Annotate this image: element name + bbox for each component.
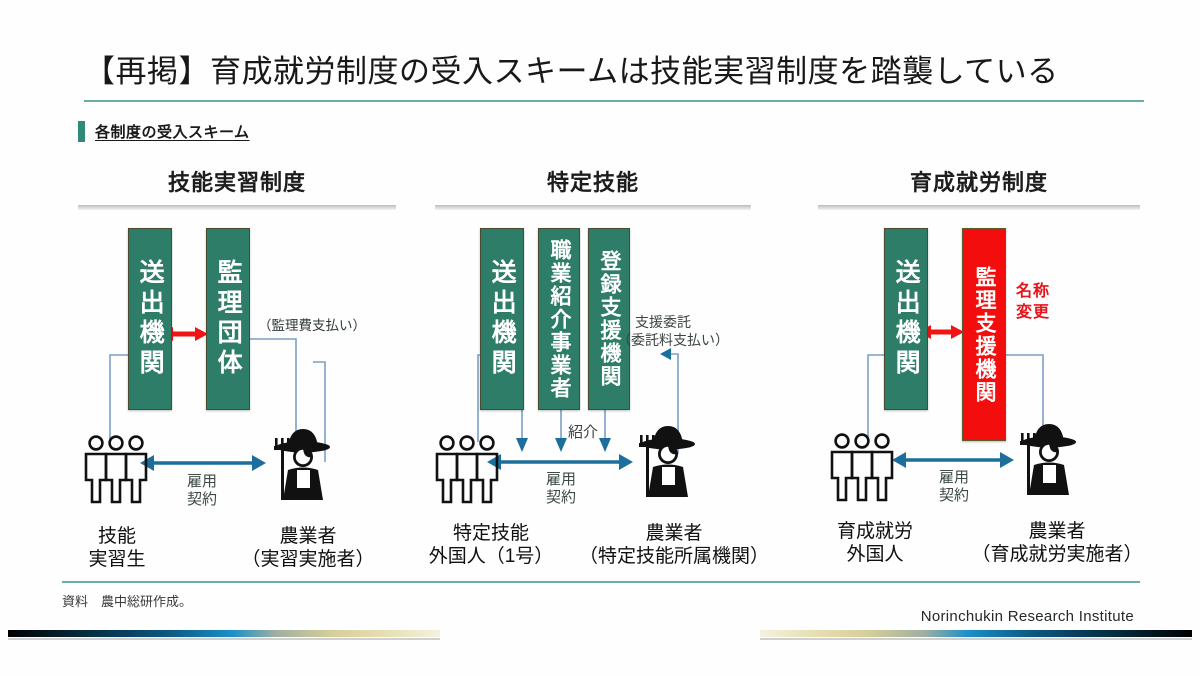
source-note: 資料 農中総研作成。 (62, 591, 192, 610)
box-label: 送出機関 (137, 259, 163, 379)
three-workers-icon (437, 437, 497, 502)
three-workers-icon (86, 437, 146, 502)
section-header: 各制度の受入スキーム (78, 121, 250, 142)
box-label: 送出機関 (489, 259, 515, 379)
box-supervising-organization[interactable]: 監理団体 (206, 228, 250, 410)
box-sending-organization[interactable]: 送出機関 (128, 228, 172, 410)
footer-gradient-bar-right (760, 630, 1192, 637)
arrowhead-sending-down (516, 438, 528, 452)
support-commission-note: 支援委託 (635, 314, 691, 332)
column-diagram: 送出機関 監理支援機関 名称変更 雇用契約 育成就労外国人 農業者（育成就労実施… (818, 210, 1140, 570)
scheme-column-tokutei-ginou: 特定技能 (435, 165, 751, 565)
farmer-icon (639, 426, 695, 497)
box-label: 監理団体 (215, 259, 241, 379)
scheme-column-ikusei-shuro: 育成就労制度 (818, 165, 1140, 565)
column-title: 技能実習制度 (78, 165, 396, 197)
caption-farmer: 農業者（育成就労実施者） (958, 520, 1156, 566)
blue-double-arrow-icon (487, 454, 633, 470)
connector-farmer-to-supervision-support (1003, 355, 1043, 440)
blue-double-arrow-icon (140, 455, 266, 471)
brand-name: Norinchukin Research Institute (921, 608, 1134, 625)
three-workers-icon (832, 435, 892, 500)
arrowhead-placement-down (555, 438, 567, 452)
footer-gradient-bar-right-shadow (760, 638, 1192, 640)
column-diagram: 送出機関 職業紹介事業者 登録支援機関 支援委託 （委託料支払い） 紹介 雇用契… (435, 210, 751, 570)
box-supervision-support-organization[interactable]: 監理支援機関 (962, 228, 1006, 441)
arrowhead-into-support-org (660, 348, 671, 360)
footer-gradient-bar-left (8, 630, 440, 637)
introduction-note: 紹介 (568, 421, 598, 442)
box-employment-placement-agency[interactable]: 職業紹介事業者 (538, 228, 580, 410)
name-change-note: 名称変更 (1016, 282, 1050, 324)
caption-farmer: 農業者（特定技能所属機関） (575, 522, 773, 568)
box-label: 送出機関 (893, 259, 919, 379)
column-title: 育成就労制度 (818, 165, 1140, 197)
employment-contract-label: 雇用契約 (531, 471, 591, 507)
commission-fee-note: （委託料支払い） (617, 332, 729, 350)
section-accent-bar (78, 121, 85, 142)
page-title: 【再掲】育成就労制度の受入スキームは技能実習制度を踏襲している (84, 46, 1144, 91)
farmer-icon (274, 429, 330, 500)
title-divider (84, 100, 1144, 102)
box-label: 監理支援機関 (973, 266, 995, 404)
scheme-column-ginou-jisshu: 技能実習制度 (78, 165, 396, 565)
column-title: 特定技能 (435, 165, 751, 197)
caption-farmer: 農業者（実習実施者） (228, 525, 388, 571)
blue-double-arrow-icon (892, 452, 1014, 468)
employment-contract-label: 雇用契約 (924, 469, 984, 505)
footer-gradient-bar-left-shadow (8, 638, 440, 640)
supervision-fee-note: （監理費支払い） (258, 318, 366, 335)
box-registered-support-organization[interactable]: 登録支援機関 (588, 228, 630, 410)
footer-divider (62, 581, 1140, 583)
box-label: 登録支援機関 (598, 250, 620, 388)
section-header-label: 各制度の受入スキーム (95, 121, 250, 142)
caption-tokutei-ginou-foreigner: 特定技能外国人（1号） (411, 522, 571, 568)
caption-ikusei-shuro-foreigner: 育成就労外国人 (810, 520, 940, 566)
column-diagram: 送出機関 監理団体 （監理費支払い） 雇用契約 技能実習生 農業者（実習実施者） (78, 210, 396, 570)
box-label: 職業紹介事業者 (548, 239, 570, 400)
arrowhead-support-down (599, 438, 611, 452)
box-sending-organization[interactable]: 送出機関 (480, 228, 524, 410)
employment-contract-label: 雇用契約 (172, 473, 232, 509)
box-sending-organization[interactable]: 送出機関 (884, 228, 928, 410)
farmer-icon (1020, 424, 1076, 495)
caption-trainee: 技能実習生 (72, 525, 162, 571)
slide-canvas: 【再掲】育成就労制度の受入スキームは技能実習制度を踏襲している 各制度の受入スキ… (0, 0, 1200, 676)
